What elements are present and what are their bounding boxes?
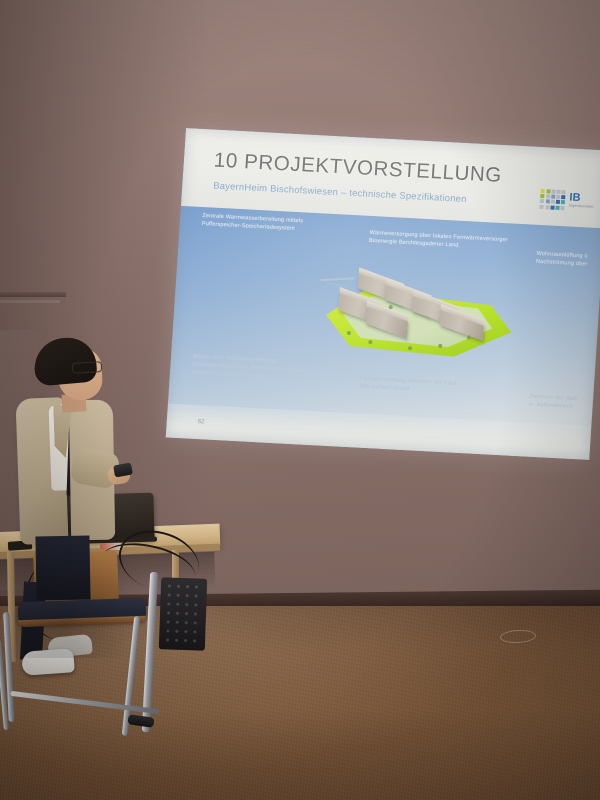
presentation-room-photo: 10 PROJEKTVORSTELLUNG BayernHeim Bischof… [0,0,600,800]
slide-callout-top-left: Zentrale Warmwasserbereitung mittels Puf… [201,213,332,236]
wall-rail [0,292,66,297]
slide-callout-bottom-middle: Nahwärmeleitung zwischen WA's auf öffent… [359,376,500,399]
glasses-icon [72,361,103,374]
slide-callout-top-right: Wohnraumlüftung ü Nachströmung über [536,251,600,273]
slide: 10 PROJEKTVORSTELLUNG BayernHeim Bischof… [166,128,600,460]
company-logo: IB Ingenieurbüro [540,189,595,211]
wall-rail-highlight [0,300,60,303]
slide-page-number: 62 [198,419,205,425]
logo-grid-icon [540,189,566,210]
logo-subtext: Ingenieurbüro [569,204,594,209]
presenter-trousers [35,536,90,601]
crane-icon [320,277,354,280]
slide-callout-top-middle: Wärmeversorgung über lokalen Fernwärmeve… [369,230,520,254]
slide-callout-bottom-left: Boden nicht versickerungsfähig → Drainag… [192,354,328,385]
site-plan-render [312,253,528,364]
projection-screen: 10 PROJEKTVORSTELLUNG BayernHeim Bischof… [166,128,600,460]
crane-arm-icon [326,282,348,287]
presenter [10,338,155,638]
bin-perforation [163,581,203,646]
slide-callout-bottom-right: Zisternen zur Gart m. Außenbereich [528,394,600,415]
waste-bin [159,577,207,651]
